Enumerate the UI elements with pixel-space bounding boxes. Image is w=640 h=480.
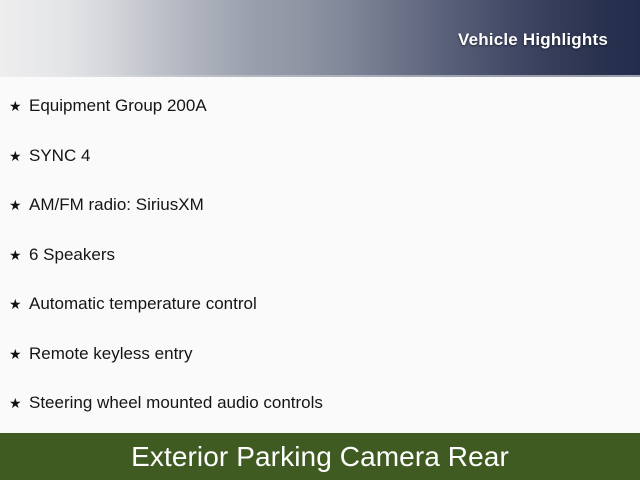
star-icon: ★	[9, 297, 29, 311]
list-item-label: Steering wheel mounted audio controls	[29, 394, 640, 411]
star-icon: ★	[9, 248, 29, 262]
star-icon: ★	[9, 396, 29, 410]
highlights-list: ★ Equipment Group 200A ★ SYNC 4 ★ AM/FM …	[0, 77, 640, 433]
star-icon: ★	[9, 99, 29, 113]
list-item: ★ 6 Speakers	[0, 246, 640, 296]
list-item-label: AM/FM radio: SiriusXM	[29, 196, 640, 213]
list-item-label: Remote keyless entry	[29, 345, 640, 362]
list-item: ★ Remote keyless entry	[0, 345, 640, 395]
list-item: ★ Steering wheel mounted audio controls	[0, 394, 640, 433]
star-icon: ★	[9, 198, 29, 212]
vehicle-highlights-slide: Vehicle Highlights ★ Equipment Group 200…	[0, 0, 640, 480]
list-item-label: 6 Speakers	[29, 246, 640, 263]
list-item: ★ AM/FM radio: SiriusXM	[0, 196, 640, 246]
list-item: ★ Automatic temperature control	[0, 295, 640, 345]
list-item-label: SYNC 4	[29, 147, 640, 164]
header-banner: Vehicle Highlights	[0, 0, 640, 77]
list-item: ★ Equipment Group 200A	[0, 97, 640, 147]
footer-caption-bar: Exterior Parking Camera Rear	[0, 433, 640, 480]
list-item: ★ SYNC 4	[0, 147, 640, 197]
highlights-panel: ★ Equipment Group 200A ★ SYNC 4 ★ AM/FM …	[0, 77, 640, 433]
footer-caption-text: Exterior Parking Camera Rear	[131, 443, 509, 471]
list-item-label: Equipment Group 200A	[29, 97, 640, 114]
star-icon: ★	[9, 347, 29, 361]
page-title: Vehicle Highlights	[458, 30, 608, 50]
star-icon: ★	[9, 149, 29, 163]
list-item-label: Automatic temperature control	[29, 295, 640, 312]
